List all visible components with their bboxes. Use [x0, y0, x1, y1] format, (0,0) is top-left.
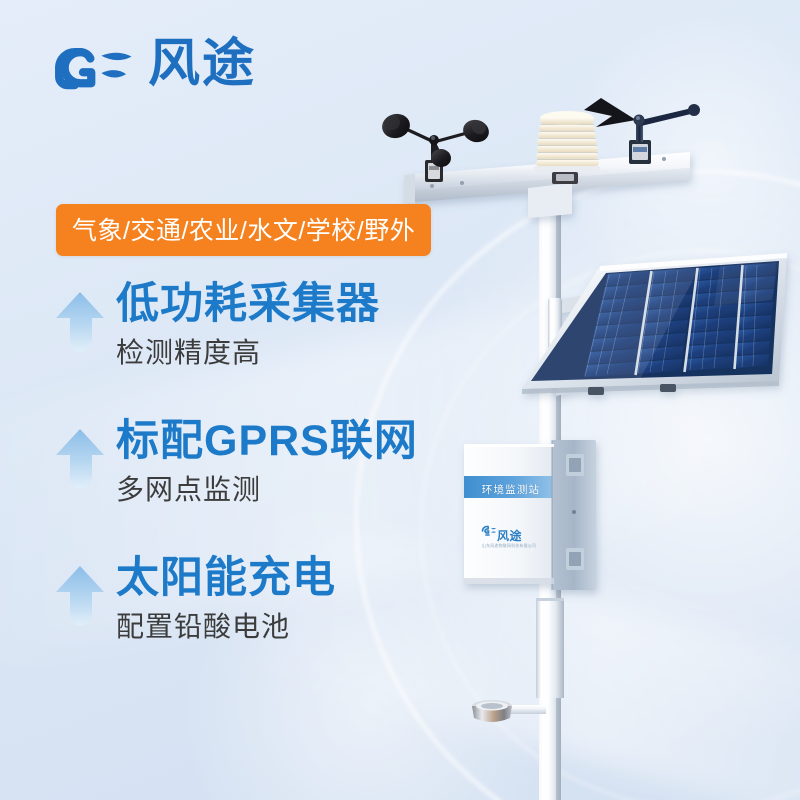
- feature-text: 低功耗采集器 检测精度高: [116, 280, 380, 370]
- up-arrow-icon: [54, 562, 106, 630]
- rain-sensor: [472, 700, 546, 722]
- feature-text: 标配GPRS联网 多网点监测: [116, 417, 418, 507]
- enclosure-logo-mark-icon: [481, 525, 497, 537]
- up-arrow-icon: [54, 425, 106, 493]
- fengtu-cloud-g-logo-icon: [50, 34, 138, 94]
- feature-subtitle: 多网点监测: [116, 472, 418, 507]
- feature-title: 标配GPRS联网: [116, 417, 418, 465]
- feature-item: 太阳能充电 配置铅酸电池: [54, 554, 418, 644]
- feature-item: 低功耗采集器 检测精度高: [54, 280, 418, 370]
- promo-page: 环境监测站 风途 山东风途物联网科技有限公司 风途 气象/交通/农业/水文/学校…: [0, 0, 800, 800]
- feature-item: 标配GPRS联网 多网点监测: [54, 417, 418, 507]
- enclosure-company-line: 山东风途物联网科技有限公司: [473, 543, 545, 549]
- enclosure-band-label: 环境监测站: [472, 482, 550, 497]
- feature-title: 太阳能充电: [116, 554, 336, 602]
- enclosure-logo-name: 风途: [497, 527, 522, 544]
- category-tag: 气象/交通/农业/水文/学校/野外: [56, 204, 431, 256]
- feature-title: 低功耗采集器: [116, 280, 380, 328]
- enclosure-box: [464, 440, 596, 590]
- feature-subtitle: 配置铅酸电池: [116, 609, 336, 644]
- up-arrow-icon: [54, 288, 106, 356]
- brand-name: 风途: [148, 38, 256, 90]
- feature-subtitle: 检测精度高: [116, 335, 380, 370]
- feature-list: 低功耗采集器 检测精度高 标配GPRS联网 多网点监测 太阳能充电 配置铅酸电池: [54, 280, 418, 644]
- feature-text: 太阳能充电 配置铅酸电池: [116, 554, 336, 644]
- solar-panel: [522, 253, 787, 396]
- brand-logo[interactable]: 风途: [50, 34, 256, 94]
